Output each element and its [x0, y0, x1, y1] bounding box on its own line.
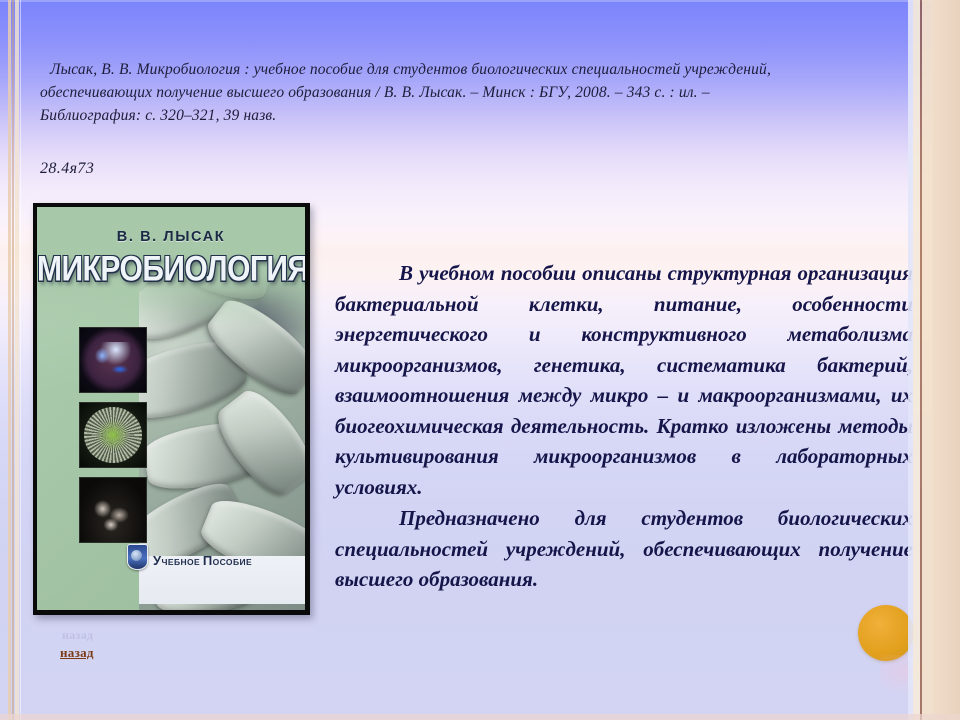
right-frame-stripe-2	[913, 0, 920, 720]
bibliographic-line-2: обеспечивающих получение высшего образов…	[40, 81, 912, 104]
book-cover-front: В. В. ЛЫСАК МИКРОБИОЛОГИЯ УЧЕБНОЕ ПОСОБИ…	[37, 207, 305, 610]
presentation-slide: Лысак, В. В. Микробиология : учебное пос…	[0, 0, 960, 720]
bibliographic-record: Лысак, В. В. Микробиология : учебное пос…	[40, 58, 912, 127]
bsu-emblem-icon	[127, 544, 148, 570]
back-link-ghost-text: назад	[62, 628, 93, 643]
cover-title: МИКРОБИОЛОГИЯ	[37, 250, 305, 290]
accent-circle	[858, 605, 914, 661]
series-word-posobie: ОСОБИЕ	[213, 557, 252, 567]
bibliographic-line-3: Библиография: с. 320–321, 39 назв.	[40, 104, 912, 127]
left-frame-stripe-1	[8, 0, 11, 720]
series-letter-u: У	[153, 553, 162, 568]
book-cover-image: В. В. ЛЫСАК МИКРОБИОЛОГИЯ УЧЕБНОЕ ПОСОБИ…	[33, 203, 310, 615]
slide-top-edge	[0, 0, 960, 2]
back-link[interactable]: назад	[60, 645, 94, 661]
cover-thumbnail-strip	[79, 327, 147, 552]
series-letter-p: П	[203, 553, 213, 568]
watermark-smudge	[880, 655, 950, 695]
micrograph-thumbnail-1	[79, 327, 147, 393]
slide-bottom-edge	[0, 714, 960, 720]
annotation-paragraph-1: В учебном пособии описаны структурная ор…	[335, 258, 913, 502]
right-frame-stripe-3	[920, 0, 922, 720]
left-frame-stripe-2	[12, 0, 14, 720]
right-frame-stripe-5	[932, 0, 960, 720]
left-frame-stripe-4	[20, 0, 21, 720]
micrograph-thumbnail-2	[79, 402, 147, 468]
annotation-text: В учебном пособии описаны структурная ор…	[335, 258, 913, 595]
left-frame-stripe-3	[15, 0, 19, 720]
cover-series-label: УЧЕБНОЕ ПОСОБИЕ	[153, 553, 252, 568]
series-word-uchebnoe: ЧЕБНОЕ	[162, 557, 203, 567]
cover-author-name: В. В. ЛЫСАК	[37, 229, 305, 245]
bibliographic-line-1: Лысак, В. В. Микробиология : учебное пос…	[40, 58, 912, 81]
right-frame-stripe-4	[922, 0, 932, 720]
call-number: 28.4я73	[40, 160, 94, 178]
annotation-paragraph-2: Предназначено для студентов биологически…	[335, 503, 913, 595]
micrograph-thumbnail-3	[79, 477, 147, 543]
